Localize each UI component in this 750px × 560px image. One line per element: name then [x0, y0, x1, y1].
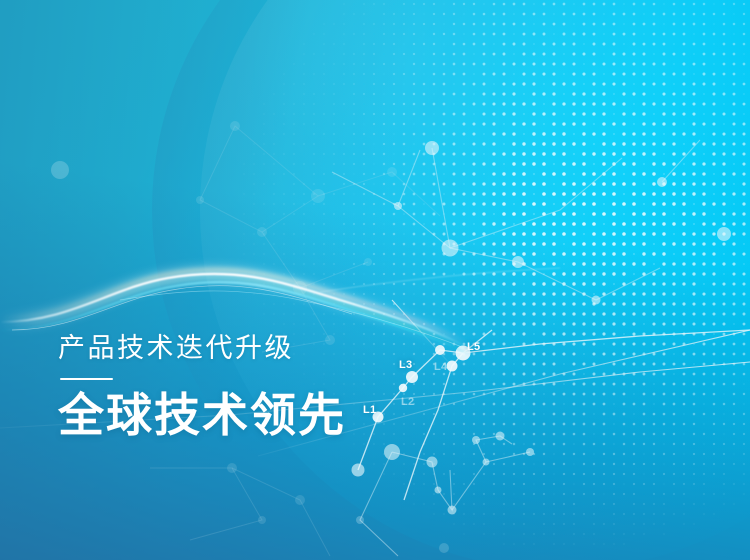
banner-title: 全球技术领先 — [58, 388, 478, 442]
title-divider — [60, 378, 113, 380]
copy-block: 产品技术迭代升级 全球技术领先 — [58, 334, 478, 443]
network-graphic — [0, 0, 750, 560]
banner-subtitle: 产品技术迭代升级 — [58, 334, 478, 362]
banner-root: L1 L2 L3 L4 L5 产品技术迭代升级 全球技术领先 — [0, 0, 750, 560]
